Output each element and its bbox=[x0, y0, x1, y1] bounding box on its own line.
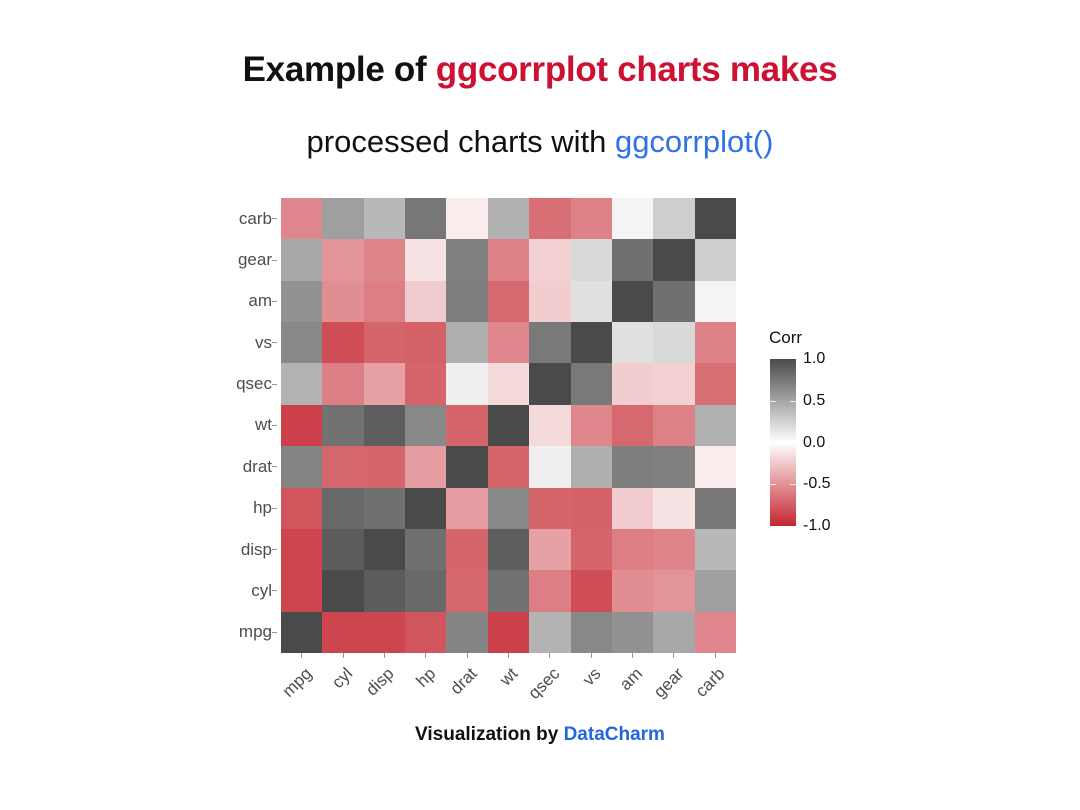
heatmap-cell bbox=[322, 405, 363, 446]
heatmap-cell bbox=[405, 570, 446, 611]
heatmap-cell bbox=[364, 281, 405, 322]
page-title-prefix: Example of bbox=[243, 50, 436, 89]
y-axis-tick-am: am bbox=[214, 281, 272, 322]
x-tick-mark-wrap bbox=[446, 653, 487, 662]
legend-inner-tick bbox=[790, 401, 796, 402]
heatmap-cell bbox=[571, 281, 612, 322]
y-tick-mark bbox=[272, 549, 277, 550]
y-tick-mark bbox=[272, 632, 277, 633]
y-tick-mark-wrap bbox=[272, 529, 281, 570]
heatmap-cell bbox=[612, 198, 653, 239]
x-tick-mark-wrap bbox=[488, 653, 529, 662]
heatmap-cell bbox=[322, 446, 363, 487]
heatmap-cell bbox=[653, 198, 694, 239]
x-tick-mark-wrap bbox=[653, 653, 694, 662]
y-tick-mark bbox=[272, 260, 277, 261]
x-tick-mark bbox=[467, 653, 468, 658]
heatmap-cell bbox=[446, 612, 487, 653]
heatmap-cell bbox=[695, 612, 736, 653]
x-tick-mark bbox=[715, 653, 716, 658]
title-block: Example of ggcorrplot charts makes bbox=[0, 48, 1080, 92]
y-tick-mark-wrap bbox=[272, 198, 281, 239]
heatmap-cell bbox=[364, 239, 405, 280]
y-tick-mark-wrap bbox=[272, 570, 281, 611]
heatmap-cell bbox=[529, 446, 570, 487]
heatmap-cell bbox=[405, 446, 446, 487]
heatmap-cell bbox=[488, 363, 529, 404]
heatmap-cell bbox=[612, 488, 653, 529]
heatmap-cell bbox=[488, 281, 529, 322]
legend-tick-label: 0.5 bbox=[803, 392, 825, 410]
x-tick-mark bbox=[425, 653, 426, 658]
heatmap-cell bbox=[364, 488, 405, 529]
heatmap-cell bbox=[653, 322, 694, 363]
legend: Corr 1.00.50.0-0.5-1.0 bbox=[769, 328, 859, 528]
heatmap-cell bbox=[488, 198, 529, 239]
heatmap-cell bbox=[364, 570, 405, 611]
page-title: Example of ggcorrplot charts makes bbox=[0, 48, 1080, 92]
x-tick-mark bbox=[384, 653, 385, 658]
x-axis-tick-disp: disp bbox=[364, 662, 405, 722]
x-tick-mark bbox=[632, 653, 633, 658]
x-tick-mark bbox=[549, 653, 550, 658]
y-tick-mark bbox=[272, 590, 277, 591]
heatmap-cell bbox=[488, 405, 529, 446]
y-axis-tick-disp: disp bbox=[214, 529, 272, 570]
heatmap-cell bbox=[653, 405, 694, 446]
heatmap-cell bbox=[571, 239, 612, 280]
heatmap-cell bbox=[612, 239, 653, 280]
heatmap-cell bbox=[322, 529, 363, 570]
x-tick-mark bbox=[301, 653, 302, 658]
x-axis-label: cyl bbox=[328, 664, 357, 693]
x-tick-mark-wrap bbox=[405, 653, 446, 662]
heatmap-cell bbox=[612, 405, 653, 446]
y-axis-label: hp bbox=[253, 498, 272, 518]
heatmap-cell bbox=[446, 239, 487, 280]
heatmap-cell bbox=[405, 488, 446, 529]
heatmap-cell bbox=[695, 488, 736, 529]
x-axis-label: qsec bbox=[524, 664, 564, 704]
x-tick-mark-wrap bbox=[529, 653, 570, 662]
heatmap-cell bbox=[364, 446, 405, 487]
heatmap-cell bbox=[281, 281, 322, 322]
x-axis-tick-hp: hp bbox=[405, 662, 446, 722]
x-axis-tick-mpg: mpg bbox=[281, 662, 322, 722]
x-axis-label: vs bbox=[579, 664, 605, 690]
y-axis-label: qsec bbox=[236, 374, 272, 394]
x-axis-tick-wt: wt bbox=[488, 662, 529, 722]
x-tick-mark-wrap bbox=[695, 653, 736, 662]
y-axis-tick-cyl: cyl bbox=[214, 570, 272, 611]
y-axis-label: drat bbox=[243, 457, 272, 477]
page-subtitle: processed charts with ggcorrplot() bbox=[0, 122, 1080, 162]
heatmap-cell bbox=[529, 281, 570, 322]
heatmap-cell bbox=[405, 529, 446, 570]
heatmap-cell bbox=[529, 239, 570, 280]
heatmap-cell bbox=[612, 529, 653, 570]
heatmap-cell bbox=[364, 529, 405, 570]
heatmap-cell bbox=[571, 612, 612, 653]
heatmap-cell bbox=[281, 488, 322, 529]
y-tick-mark bbox=[272, 218, 277, 219]
heatmap-cell bbox=[322, 198, 363, 239]
y-axis-tick-mpg: mpg bbox=[214, 612, 272, 653]
heatmap-cell bbox=[488, 239, 529, 280]
heatmap-cell bbox=[612, 363, 653, 404]
x-axis-label: am bbox=[616, 664, 647, 695]
legend-tick-label: 0.0 bbox=[803, 434, 825, 452]
x-axis-label: carb bbox=[692, 664, 730, 702]
heatmap-cell bbox=[488, 529, 529, 570]
legend-inner-tick bbox=[790, 484, 796, 485]
heatmap-cell bbox=[281, 529, 322, 570]
x-axis-tick-cyl: cyl bbox=[322, 662, 363, 722]
heatmap-cell bbox=[405, 405, 446, 446]
x-tick-mark-wrap bbox=[322, 653, 363, 662]
y-axis-label: mpg bbox=[239, 622, 272, 642]
page-subtitle-prefix: processed charts with bbox=[307, 124, 615, 159]
y-axis-tick-hp: hp bbox=[214, 488, 272, 529]
y-tick-mark bbox=[272, 425, 277, 426]
heatmap-cell bbox=[364, 198, 405, 239]
heatmap-cell bbox=[281, 239, 322, 280]
heatmap-cell bbox=[322, 363, 363, 404]
heatmap-cell bbox=[488, 446, 529, 487]
heatmap-cell bbox=[322, 488, 363, 529]
x-axis-tick-am: am bbox=[612, 662, 653, 722]
x-axis-tick-vs: vs bbox=[571, 662, 612, 722]
y-axis-tick-wt: wt bbox=[214, 405, 272, 446]
x-axis-label: drat bbox=[446, 664, 481, 699]
x-axis-label: disp bbox=[362, 664, 398, 700]
x-tick-mark bbox=[673, 653, 674, 658]
x-tick-mark-wrap bbox=[571, 653, 612, 662]
x-tick-mark bbox=[591, 653, 592, 658]
heatmap-cell bbox=[695, 570, 736, 611]
heatmap-cell bbox=[364, 322, 405, 363]
caption-brand: DataCharm bbox=[564, 724, 665, 745]
y-tick-mark bbox=[272, 342, 277, 343]
x-axis-ticks bbox=[281, 653, 736, 662]
heatmap-cell bbox=[488, 570, 529, 611]
heatmap-cell bbox=[322, 570, 363, 611]
heatmap-cell bbox=[529, 322, 570, 363]
heatmap-cell bbox=[653, 239, 694, 280]
heatmap-cell bbox=[653, 363, 694, 404]
heatmap-cell bbox=[281, 405, 322, 446]
heatmap-cell bbox=[695, 405, 736, 446]
legend-tick-label: -1.0 bbox=[803, 517, 831, 535]
legend-tick-label: -0.5 bbox=[803, 475, 831, 493]
heatmap-cell bbox=[653, 529, 694, 570]
heatmap-cell bbox=[571, 570, 612, 611]
y-axis-label: am bbox=[248, 291, 272, 311]
y-axis: carbgearamvsqsecwtdrathpdispcylmpg bbox=[214, 198, 272, 653]
heatmap-cell bbox=[281, 446, 322, 487]
legend-body: 1.00.50.0-0.5-1.0 bbox=[769, 356, 859, 528]
heatmap-cell bbox=[488, 612, 529, 653]
heatmap-cell bbox=[488, 488, 529, 529]
heatmap-cell bbox=[322, 281, 363, 322]
heatmap-cell bbox=[571, 488, 612, 529]
heatmap-cell bbox=[571, 529, 612, 570]
caption: Visualization by DataCharm bbox=[0, 724, 1080, 746]
heatmap-cell bbox=[529, 405, 570, 446]
heatmap-cell bbox=[405, 612, 446, 653]
heatmap-cell bbox=[612, 570, 653, 611]
heatmap-cell bbox=[695, 281, 736, 322]
heatmap-cell bbox=[571, 363, 612, 404]
heatmap-cell bbox=[446, 405, 487, 446]
heatmap-cell bbox=[446, 363, 487, 404]
heatmap-cell bbox=[653, 612, 694, 653]
y-axis-label: disp bbox=[241, 540, 272, 560]
x-axis-label: hp bbox=[412, 664, 440, 692]
heatmap-cell bbox=[281, 612, 322, 653]
y-axis-ticks bbox=[272, 198, 281, 653]
heatmap-cell bbox=[281, 198, 322, 239]
caption-prefix: Visualization by bbox=[415, 724, 564, 745]
heatmap-cell bbox=[405, 281, 446, 322]
legend-inner-tick bbox=[770, 401, 776, 402]
heatmap-cell bbox=[612, 446, 653, 487]
heatmap-cell bbox=[446, 322, 487, 363]
legend-tick-labels: 1.00.50.0-0.5-1.0 bbox=[803, 359, 859, 526]
legend-inner-tick bbox=[770, 484, 776, 485]
heatmap-cell bbox=[529, 363, 570, 404]
y-axis-label: cyl bbox=[251, 581, 272, 601]
heatmap-grid bbox=[281, 198, 736, 653]
y-axis-tick-vs: vs bbox=[214, 322, 272, 363]
heatmap-cell bbox=[322, 322, 363, 363]
x-axis-label: gear bbox=[650, 664, 688, 702]
y-tick-mark-wrap bbox=[272, 281, 281, 322]
heatmap-cell bbox=[446, 281, 487, 322]
heatmap-cell bbox=[281, 322, 322, 363]
page-subtitle-accent: ggcorrplot() bbox=[615, 124, 774, 159]
y-axis-tick-carb: carb bbox=[214, 198, 272, 239]
heatmap-cell bbox=[446, 529, 487, 570]
heatmap-cell bbox=[405, 322, 446, 363]
x-tick-mark-wrap bbox=[612, 653, 653, 662]
heatmap-cell bbox=[571, 322, 612, 363]
x-axis-tick-qsec: qsec bbox=[529, 662, 570, 722]
y-axis-label: vs bbox=[255, 333, 272, 353]
legend-colorbar-ticks bbox=[770, 359, 796, 526]
y-axis-tick-drat: drat bbox=[214, 446, 272, 487]
y-tick-mark bbox=[272, 301, 277, 302]
heatmap-cell bbox=[529, 612, 570, 653]
heatmap-cell bbox=[571, 198, 612, 239]
y-tick-mark-wrap bbox=[272, 446, 281, 487]
heatmap-cell bbox=[653, 488, 694, 529]
heatmap-cell bbox=[281, 363, 322, 404]
legend-title: Corr bbox=[769, 328, 859, 348]
heatmap-cell bbox=[405, 363, 446, 404]
heatmap-cell bbox=[612, 612, 653, 653]
y-axis-label: wt bbox=[255, 415, 272, 435]
y-tick-mark-wrap bbox=[272, 612, 281, 653]
heatmap-cell bbox=[571, 405, 612, 446]
x-tick-mark bbox=[343, 653, 344, 658]
y-tick-mark-wrap bbox=[272, 488, 281, 529]
x-axis: mpgcyldisphpdratwtqsecvsamgearcarb bbox=[281, 662, 736, 722]
x-axis-tick-carb: carb bbox=[695, 662, 736, 722]
heatmap-cell bbox=[446, 488, 487, 529]
heatmap-cell bbox=[695, 322, 736, 363]
heatmap-cell bbox=[364, 363, 405, 404]
legend-tick-label: 1.0 bbox=[803, 350, 825, 368]
heatmap-cell bbox=[695, 239, 736, 280]
heatmap-cell bbox=[322, 239, 363, 280]
x-axis-tick-gear: gear bbox=[653, 662, 694, 722]
heatmap-cell bbox=[695, 529, 736, 570]
y-axis-label: carb bbox=[239, 209, 272, 229]
heatmap-cell bbox=[446, 198, 487, 239]
heatmap-cell bbox=[281, 570, 322, 611]
heatmap-cell bbox=[364, 612, 405, 653]
page-title-accent: ggcorrplot charts makes bbox=[436, 50, 838, 89]
heatmap-cell bbox=[612, 322, 653, 363]
correlation-heatmap-panel bbox=[281, 198, 736, 653]
heatmap-cell bbox=[653, 570, 694, 611]
y-tick-mark bbox=[272, 508, 277, 509]
heatmap-cell bbox=[529, 570, 570, 611]
x-tick-mark-wrap bbox=[281, 653, 322, 662]
heatmap-cell bbox=[446, 570, 487, 611]
heatmap-cell bbox=[529, 198, 570, 239]
heatmap-cell bbox=[446, 446, 487, 487]
heatmap-cell bbox=[695, 363, 736, 404]
heatmap-cell bbox=[695, 198, 736, 239]
x-tick-mark bbox=[508, 653, 509, 658]
heatmap-cell bbox=[571, 446, 612, 487]
heatmap-cell bbox=[695, 446, 736, 487]
x-axis-tick-drat: drat bbox=[446, 662, 487, 722]
y-tick-mark-wrap bbox=[272, 405, 281, 446]
x-axis-label: mpg bbox=[278, 664, 316, 702]
x-tick-mark-wrap bbox=[364, 653, 405, 662]
y-tick-mark bbox=[272, 384, 277, 385]
heatmap-cell bbox=[529, 529, 570, 570]
y-tick-mark-wrap bbox=[272, 363, 281, 404]
heatmap-cell bbox=[405, 198, 446, 239]
heatmap-cell bbox=[653, 281, 694, 322]
y-axis-tick-gear: gear bbox=[214, 239, 272, 280]
x-axis-label: wt bbox=[496, 664, 522, 690]
heatmap-cell bbox=[405, 239, 446, 280]
heatmap-cell bbox=[653, 446, 694, 487]
y-tick-mark bbox=[272, 466, 277, 467]
heatmap-cell bbox=[488, 322, 529, 363]
heatmap-cell bbox=[322, 612, 363, 653]
y-tick-mark-wrap bbox=[272, 239, 281, 280]
heatmap-cell bbox=[364, 405, 405, 446]
y-tick-mark-wrap bbox=[272, 322, 281, 363]
heatmap-cell bbox=[612, 281, 653, 322]
y-axis-tick-qsec: qsec bbox=[214, 363, 272, 404]
heatmap-cell bbox=[529, 488, 570, 529]
y-axis-label: gear bbox=[238, 250, 272, 270]
